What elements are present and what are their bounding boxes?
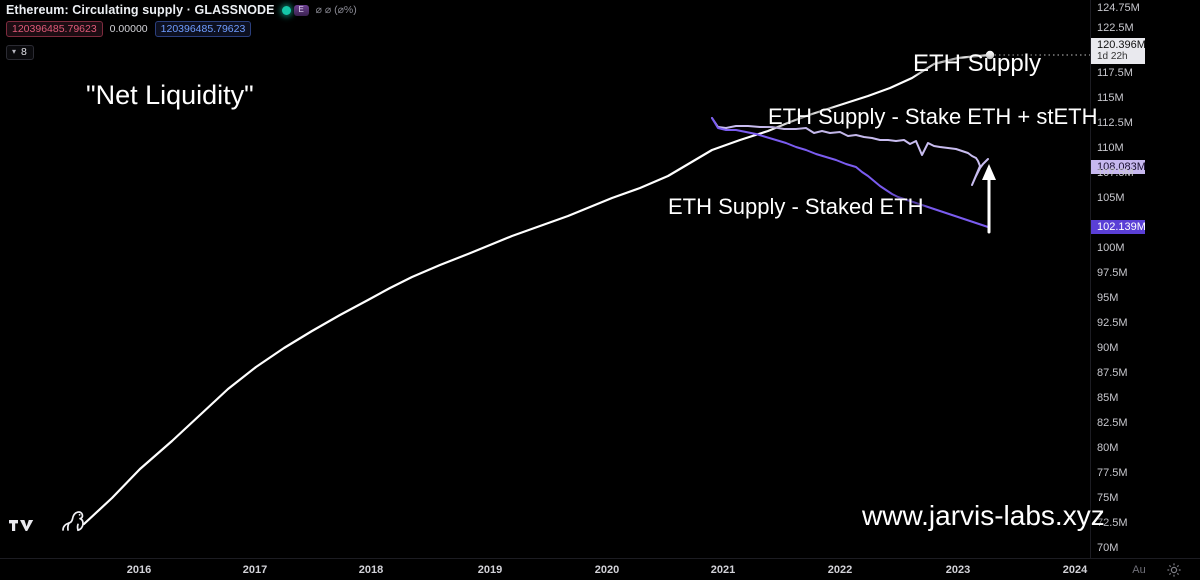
value-chip-primary[interactable]: 120396485.79623 bbox=[6, 21, 103, 37]
price-axis[interactable]: 124.75M122.5M120.396M1d 22h117.5M115M112… bbox=[1090, 0, 1145, 558]
time-axis-label: 2020 bbox=[595, 564, 619, 576]
chevron-down-icon: ▾ bbox=[12, 48, 16, 56]
value-chip-secondary[interactable]: 120396485.79623 bbox=[155, 21, 252, 37]
value-change: 0.00000 bbox=[110, 23, 148, 35]
price-axis-label: 112.5M bbox=[1097, 117, 1133, 129]
watermark-jarvis-labs: www.jarvis-labs.xyz bbox=[862, 500, 1105, 532]
price-axis-label: 90M bbox=[1097, 342, 1118, 354]
price-axis-label-highlighted[interactable]: 102.139M bbox=[1091, 220, 1145, 234]
annotation-eth-supply: ETH Supply bbox=[913, 50, 1041, 78]
time-axis-label: 2021 bbox=[711, 564, 735, 576]
time-axis-label: 2016 bbox=[127, 564, 151, 576]
price-axis-label: 122.5M bbox=[1097, 22, 1134, 34]
source-badges: E bbox=[282, 5, 309, 16]
tradingview-logo[interactable] bbox=[9, 514, 35, 532]
chart-pane[interactable]: "Net Liquidity" ETH Supply ETH Supply - … bbox=[0, 0, 1145, 558]
price-label-countdown: 1d 22h bbox=[1097, 51, 1145, 63]
price-axis-label: 70M bbox=[1097, 542, 1118, 554]
legend-title-row: Ethereum: Circulating supply · GLASSNODE… bbox=[6, 2, 376, 18]
interval-select[interactable]: ▾ 8 bbox=[6, 45, 34, 60]
brand-row bbox=[9, 506, 91, 532]
time-axis-label: 2018 bbox=[359, 564, 383, 576]
time-axis-label: 2024 bbox=[1063, 564, 1087, 576]
gear-icon[interactable] bbox=[1166, 562, 1182, 578]
price-axis-label: 105M bbox=[1097, 192, 1125, 204]
price-axis-label: 117.5M bbox=[1097, 67, 1133, 79]
price-axis-label: 80M bbox=[1097, 442, 1118, 454]
time-axis-label: 2019 bbox=[478, 564, 502, 576]
time-axis-label: 2023 bbox=[946, 564, 970, 576]
time-axis[interactable]: 201620172018201920202021202220232024Au bbox=[0, 558, 1200, 580]
dinosaur-mascot bbox=[59, 506, 91, 532]
teal-status-dot bbox=[282, 6, 291, 15]
price-axis-label: 115M bbox=[1097, 92, 1124, 104]
annotation-net-liquidity: "Net Liquidity" bbox=[86, 80, 254, 111]
price-axis-label: 85M bbox=[1097, 392, 1118, 404]
time-axis-label: 2017 bbox=[243, 564, 267, 576]
legend-values-row: 120396485.79623 0.00000 120396485.79623 bbox=[6, 21, 376, 37]
price-axis-label: 124.75M bbox=[1097, 2, 1140, 14]
ethereum-badge-icon: E bbox=[294, 5, 309, 16]
interval-dropdown-row: ▾ 8 bbox=[6, 41, 376, 60]
price-axis-label: 95M bbox=[1097, 292, 1118, 304]
time-axis-label: Au bbox=[1132, 564, 1145, 576]
annotation-eth-supply-staked-eth: ETH Supply - Staked ETH bbox=[668, 194, 924, 220]
price-axis-label: 100M bbox=[1097, 242, 1125, 254]
up-arrow-annotation bbox=[982, 164, 996, 232]
price-axis-label: 107.5M bbox=[1097, 167, 1134, 179]
interval-value: 8 bbox=[21, 47, 27, 58]
price-axis-label: 110M bbox=[1097, 142, 1124, 154]
price-axis-label: 97.5M bbox=[1097, 267, 1128, 279]
chart-title: Ethereum: Circulating supply · GLASSNODE bbox=[6, 3, 275, 17]
price-axis-label: 92.5M bbox=[1097, 317, 1128, 329]
price-axis-label: 82.5M bbox=[1097, 417, 1128, 429]
price-axis-label-highlighted[interactable]: 120.396M1d 22h bbox=[1091, 38, 1145, 64]
price-axis-label: 87.5M bbox=[1097, 367, 1128, 379]
annotation-eth-supply-stake-eth-plus-steth: ETH Supply - Stake ETH + stETH bbox=[768, 104, 1097, 130]
chart-legend[interactable]: Ethereum: Circulating supply · GLASSNODE… bbox=[0, 0, 380, 60]
time-axis-label: 2022 bbox=[828, 564, 852, 576]
price-axis-label: 77.5M bbox=[1097, 467, 1128, 479]
legend-ohlc-meta: ⌀ ⌀ (⌀%) bbox=[316, 4, 357, 16]
